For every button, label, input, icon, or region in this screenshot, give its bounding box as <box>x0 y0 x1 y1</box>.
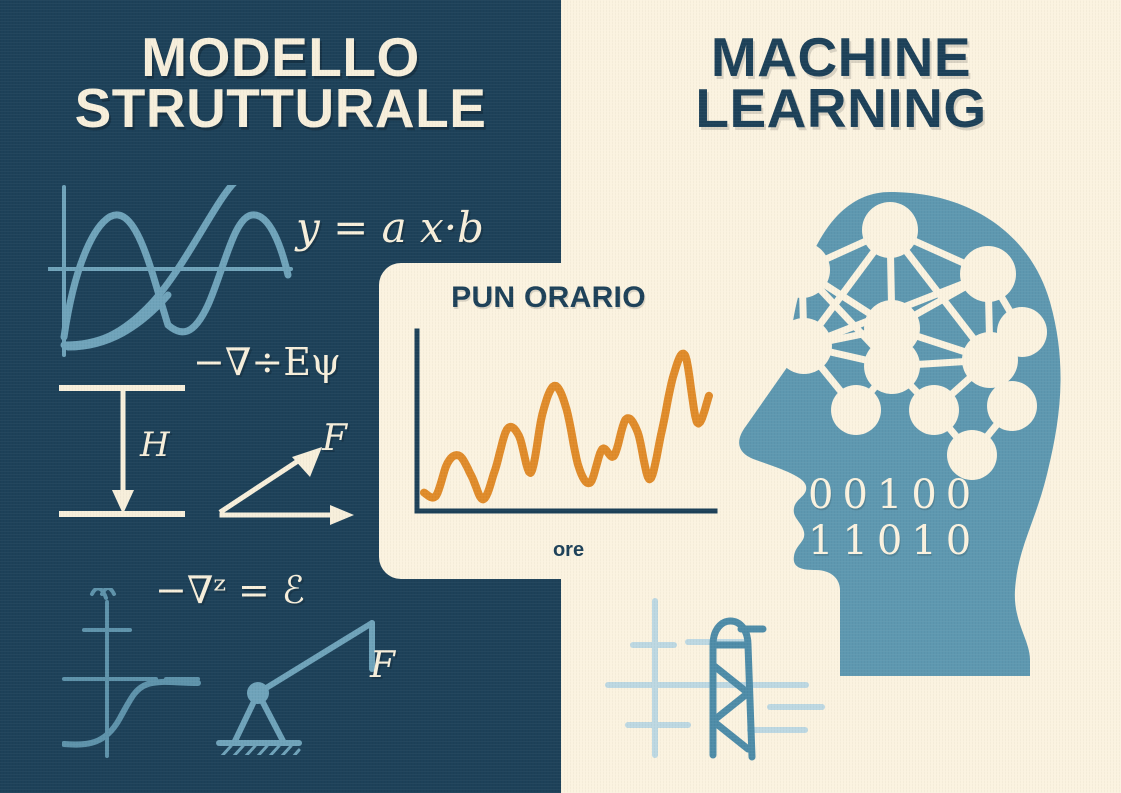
label-height-H: H <box>140 425 170 465</box>
neural-node <box>962 332 1018 388</box>
chart-series-line <box>424 354 709 500</box>
neural-node <box>909 385 959 435</box>
sigmoid-axis-top-cap-left <box>92 588 106 598</box>
ground-hatching <box>221 746 299 755</box>
beam-member <box>258 623 372 693</box>
pun-orario-line-chart <box>379 321 718 541</box>
card-title: PUN ORARIO <box>379 281 718 315</box>
sine-and-exponential-curve-plot <box>48 185 298 360</box>
force-resultant-arrowhead <box>292 447 322 477</box>
neural-node <box>774 242 830 298</box>
binary-digits-line-1: 00100 <box>808 472 980 518</box>
neural-node <box>960 246 1016 302</box>
pun-orario-card: PUN ORARIO ore <box>379 263 718 579</box>
neural-node <box>831 385 881 435</box>
left-title-line-2: STRUTTURALE <box>0 83 561 134</box>
right-title-line-2: LEARNING <box>561 83 1121 134</box>
neural-node <box>864 338 920 394</box>
chart-x-axis-label: ore <box>419 539 718 562</box>
right-title-line-1: MACHINE <box>561 32 1121 83</box>
height-arrow-between-two-lines <box>58 382 193 522</box>
force-resultant-line <box>222 457 304 511</box>
label-force-F-beam: F <box>370 645 395 686</box>
tower-lattice-bracing <box>713 665 748 749</box>
neural-node <box>862 202 918 258</box>
left-title-line-1: MODELLO <box>0 32 561 83</box>
pin-joint <box>247 682 269 704</box>
transmission-tower <box>600 585 830 775</box>
force-horizontal-arrowhead <box>330 505 354 525</box>
left-panel-title: MODELLO STRUTTURALE <box>0 32 561 133</box>
binary-digits-line-2: 11010 <box>808 518 980 564</box>
sigmoid-curve <box>64 682 198 745</box>
sigmoid-curve-plot <box>62 588 202 763</box>
label-force-F-vector: F <box>322 418 347 459</box>
formula-linear-equation: y = a x·b <box>296 203 484 252</box>
right-panel-title: MACHINE LEARNING <box>561 32 1121 133</box>
neural-node <box>987 381 1037 431</box>
formula-nabla-e-psi: −∇÷Eψ <box>193 340 341 384</box>
infographic-canvas: MODELLO STRUTTURALE MACHINE LEARNING y =… <box>0 0 1121 793</box>
height-arrow-head <box>112 490 134 514</box>
neural-node <box>776 318 832 374</box>
